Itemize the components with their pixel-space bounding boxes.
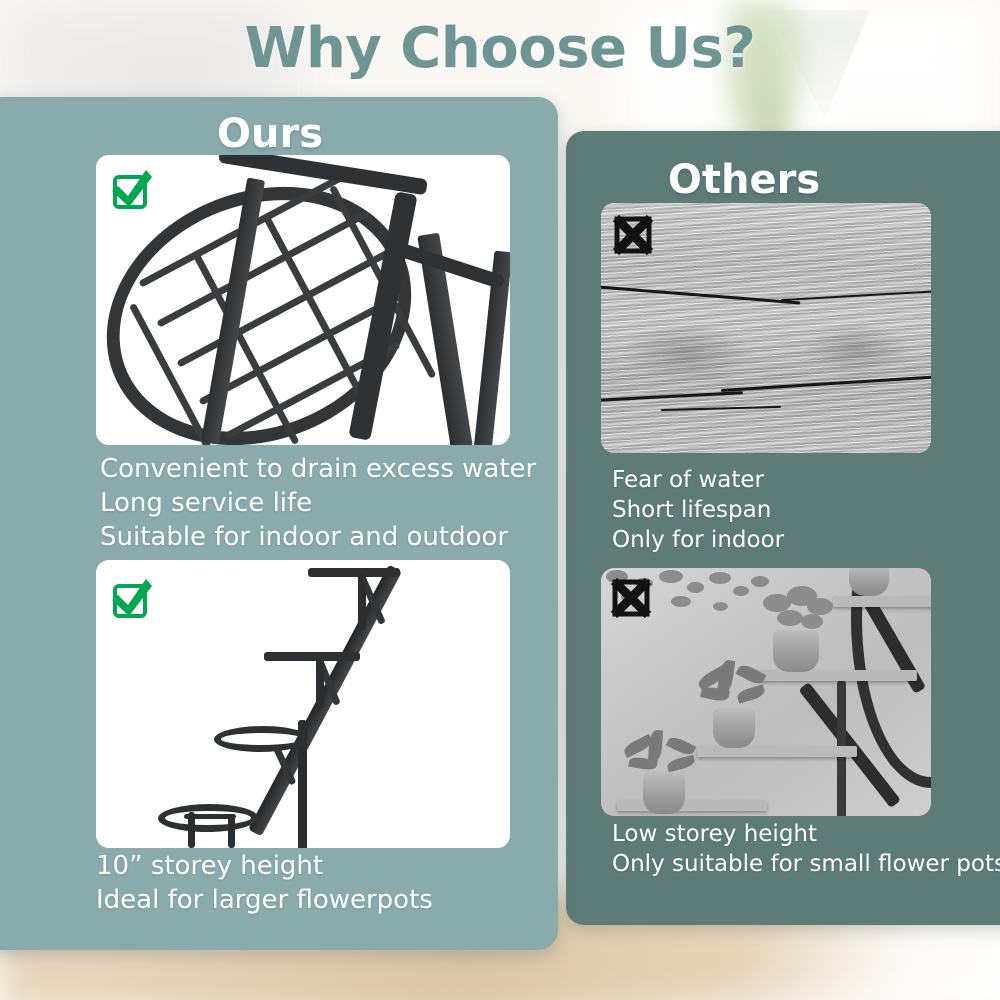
others-heading: Others xyxy=(566,157,922,203)
green-check-icon xyxy=(106,165,156,215)
ours-feature-line: Suitable for indoor and outdoor xyxy=(100,521,536,555)
ours-panel: Ours xyxy=(0,97,558,950)
page-title: Why Choose Us? xyxy=(0,16,1000,81)
others-feature-list-1: Fear of water Short lifespan Only for in… xyxy=(612,466,784,556)
others-feature-line: Short lifespan xyxy=(612,496,784,526)
ours-image-tiered-stand xyxy=(96,560,510,848)
ours-feature-list-1: Convenient to drain excess water Long se… xyxy=(100,453,536,554)
ours-feature-line: Convenient to drain excess water xyxy=(100,453,536,487)
ours-feature-line: 10” storey height xyxy=(96,850,433,884)
ours-feature-list-2: 10” storey height Ideal for larger flowe… xyxy=(96,850,433,918)
ours-feature-line: Long service life xyxy=(100,487,536,521)
black-x-icon xyxy=(609,576,653,620)
others-feature-line: Only suitable for small flower pots xyxy=(612,850,1000,880)
others-feature-line: Fear of water xyxy=(612,466,784,496)
ours-heading: Ours xyxy=(0,111,540,157)
green-check-icon xyxy=(106,574,156,624)
others-feature-line: Low storey height xyxy=(612,820,1000,850)
black-x-icon xyxy=(611,213,655,257)
ours-image-metal-shelf xyxy=(96,155,510,445)
others-image-plant-stand xyxy=(601,568,931,816)
ours-feature-line: Ideal for larger flowerpots xyxy=(96,884,433,918)
others-image-wood-plank xyxy=(601,203,931,453)
others-panel: Others xyxy=(566,131,1000,925)
others-feature-line: Only for indoor xyxy=(612,526,784,556)
others-feature-list-2: Low storey height Only suitable for smal… xyxy=(612,820,1000,880)
infographic-stage: Why Choose Us? Others xyxy=(0,0,1000,1000)
